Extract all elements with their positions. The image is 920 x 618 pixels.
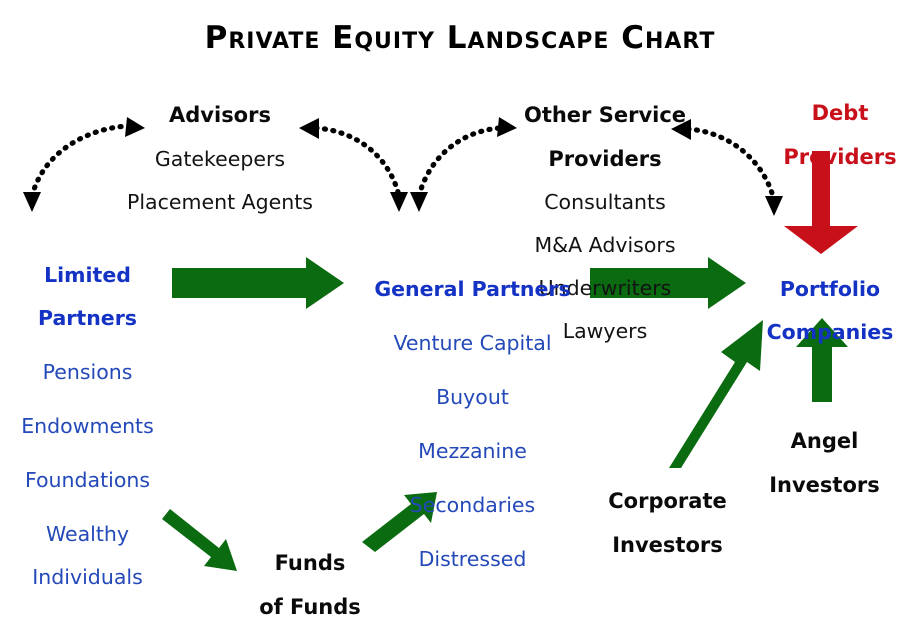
page-title: Private Equity Landscape Chart xyxy=(0,20,920,57)
debt-providers-heading-line2: Providers xyxy=(760,145,920,170)
angel-investors-heading-line2: Investors xyxy=(742,473,907,498)
gp-item-buyout: Buyout xyxy=(345,385,600,409)
funds-of-funds-heading-line2: of Funds xyxy=(235,595,385,618)
node-portfolio-companies: Portfolio Companies xyxy=(740,258,920,363)
arrow-lp-to-gp xyxy=(172,257,344,309)
arrowhead-gp-down-right xyxy=(410,192,428,212)
node-advisors: Advisors Gatekeepers Placement Agents xyxy=(60,84,380,233)
arrowhead-lp-down xyxy=(23,192,41,212)
node-corporate-investors: Corporate Investors xyxy=(575,470,760,576)
osp-heading-line1: Other Service xyxy=(480,103,730,128)
corporate-investors-heading-line2: Investors xyxy=(575,533,760,558)
funds-of-funds-heading-line1: Funds xyxy=(235,551,385,576)
advisors-heading: Advisors xyxy=(60,103,380,128)
node-funds-of-funds: Funds of Funds xyxy=(235,532,385,618)
advisors-item-gatekeepers: Gatekeepers xyxy=(60,147,380,171)
lp-item-pensions: Pensions xyxy=(0,360,175,384)
gp-item-venture-capital: Venture Capital xyxy=(345,331,600,355)
limited-partners-heading-line1: Limited xyxy=(0,263,175,287)
lp-item-endowments: Endowments xyxy=(0,414,175,438)
general-partners-heading: General Partners xyxy=(345,277,600,301)
corporate-investors-heading-line1: Corporate xyxy=(575,489,760,514)
osp-heading-line2: Providers xyxy=(480,147,730,172)
gp-item-secondaries: Secondaries xyxy=(345,493,600,517)
lp-item-foundations: Foundations xyxy=(0,468,175,492)
node-limited-partners: Limited Partners Pensions Endowments Fou… xyxy=(0,244,175,618)
osp-item-ma-advisors: M&A Advisors xyxy=(480,233,730,257)
node-debt-providers: Debt Providers xyxy=(760,82,920,188)
portfolio-companies-heading-line2: Companies xyxy=(740,320,920,344)
debt-providers-heading-line1: Debt xyxy=(760,101,920,126)
advisors-item-placement-agents: Placement Agents xyxy=(60,190,380,214)
osp-item-consultants: Consultants xyxy=(480,190,730,214)
limited-partners-heading-line2: Partners xyxy=(0,306,175,330)
gp-item-mezzanine: Mezzanine xyxy=(345,439,600,463)
arrowhead-portfolio-down xyxy=(765,196,783,216)
arrowhead-gp-down-left xyxy=(390,192,408,212)
node-angel-investors: Angel Investors xyxy=(742,410,907,516)
lp-item-individuals: Individuals xyxy=(0,565,175,589)
lp-item-wealthy: Wealthy xyxy=(0,522,175,546)
angel-investors-heading-line1: Angel xyxy=(742,429,907,454)
diagram-canvas: Private Equity Landscape Chart Advisors … xyxy=(0,0,920,618)
portfolio-companies-heading-line1: Portfolio xyxy=(740,277,920,301)
